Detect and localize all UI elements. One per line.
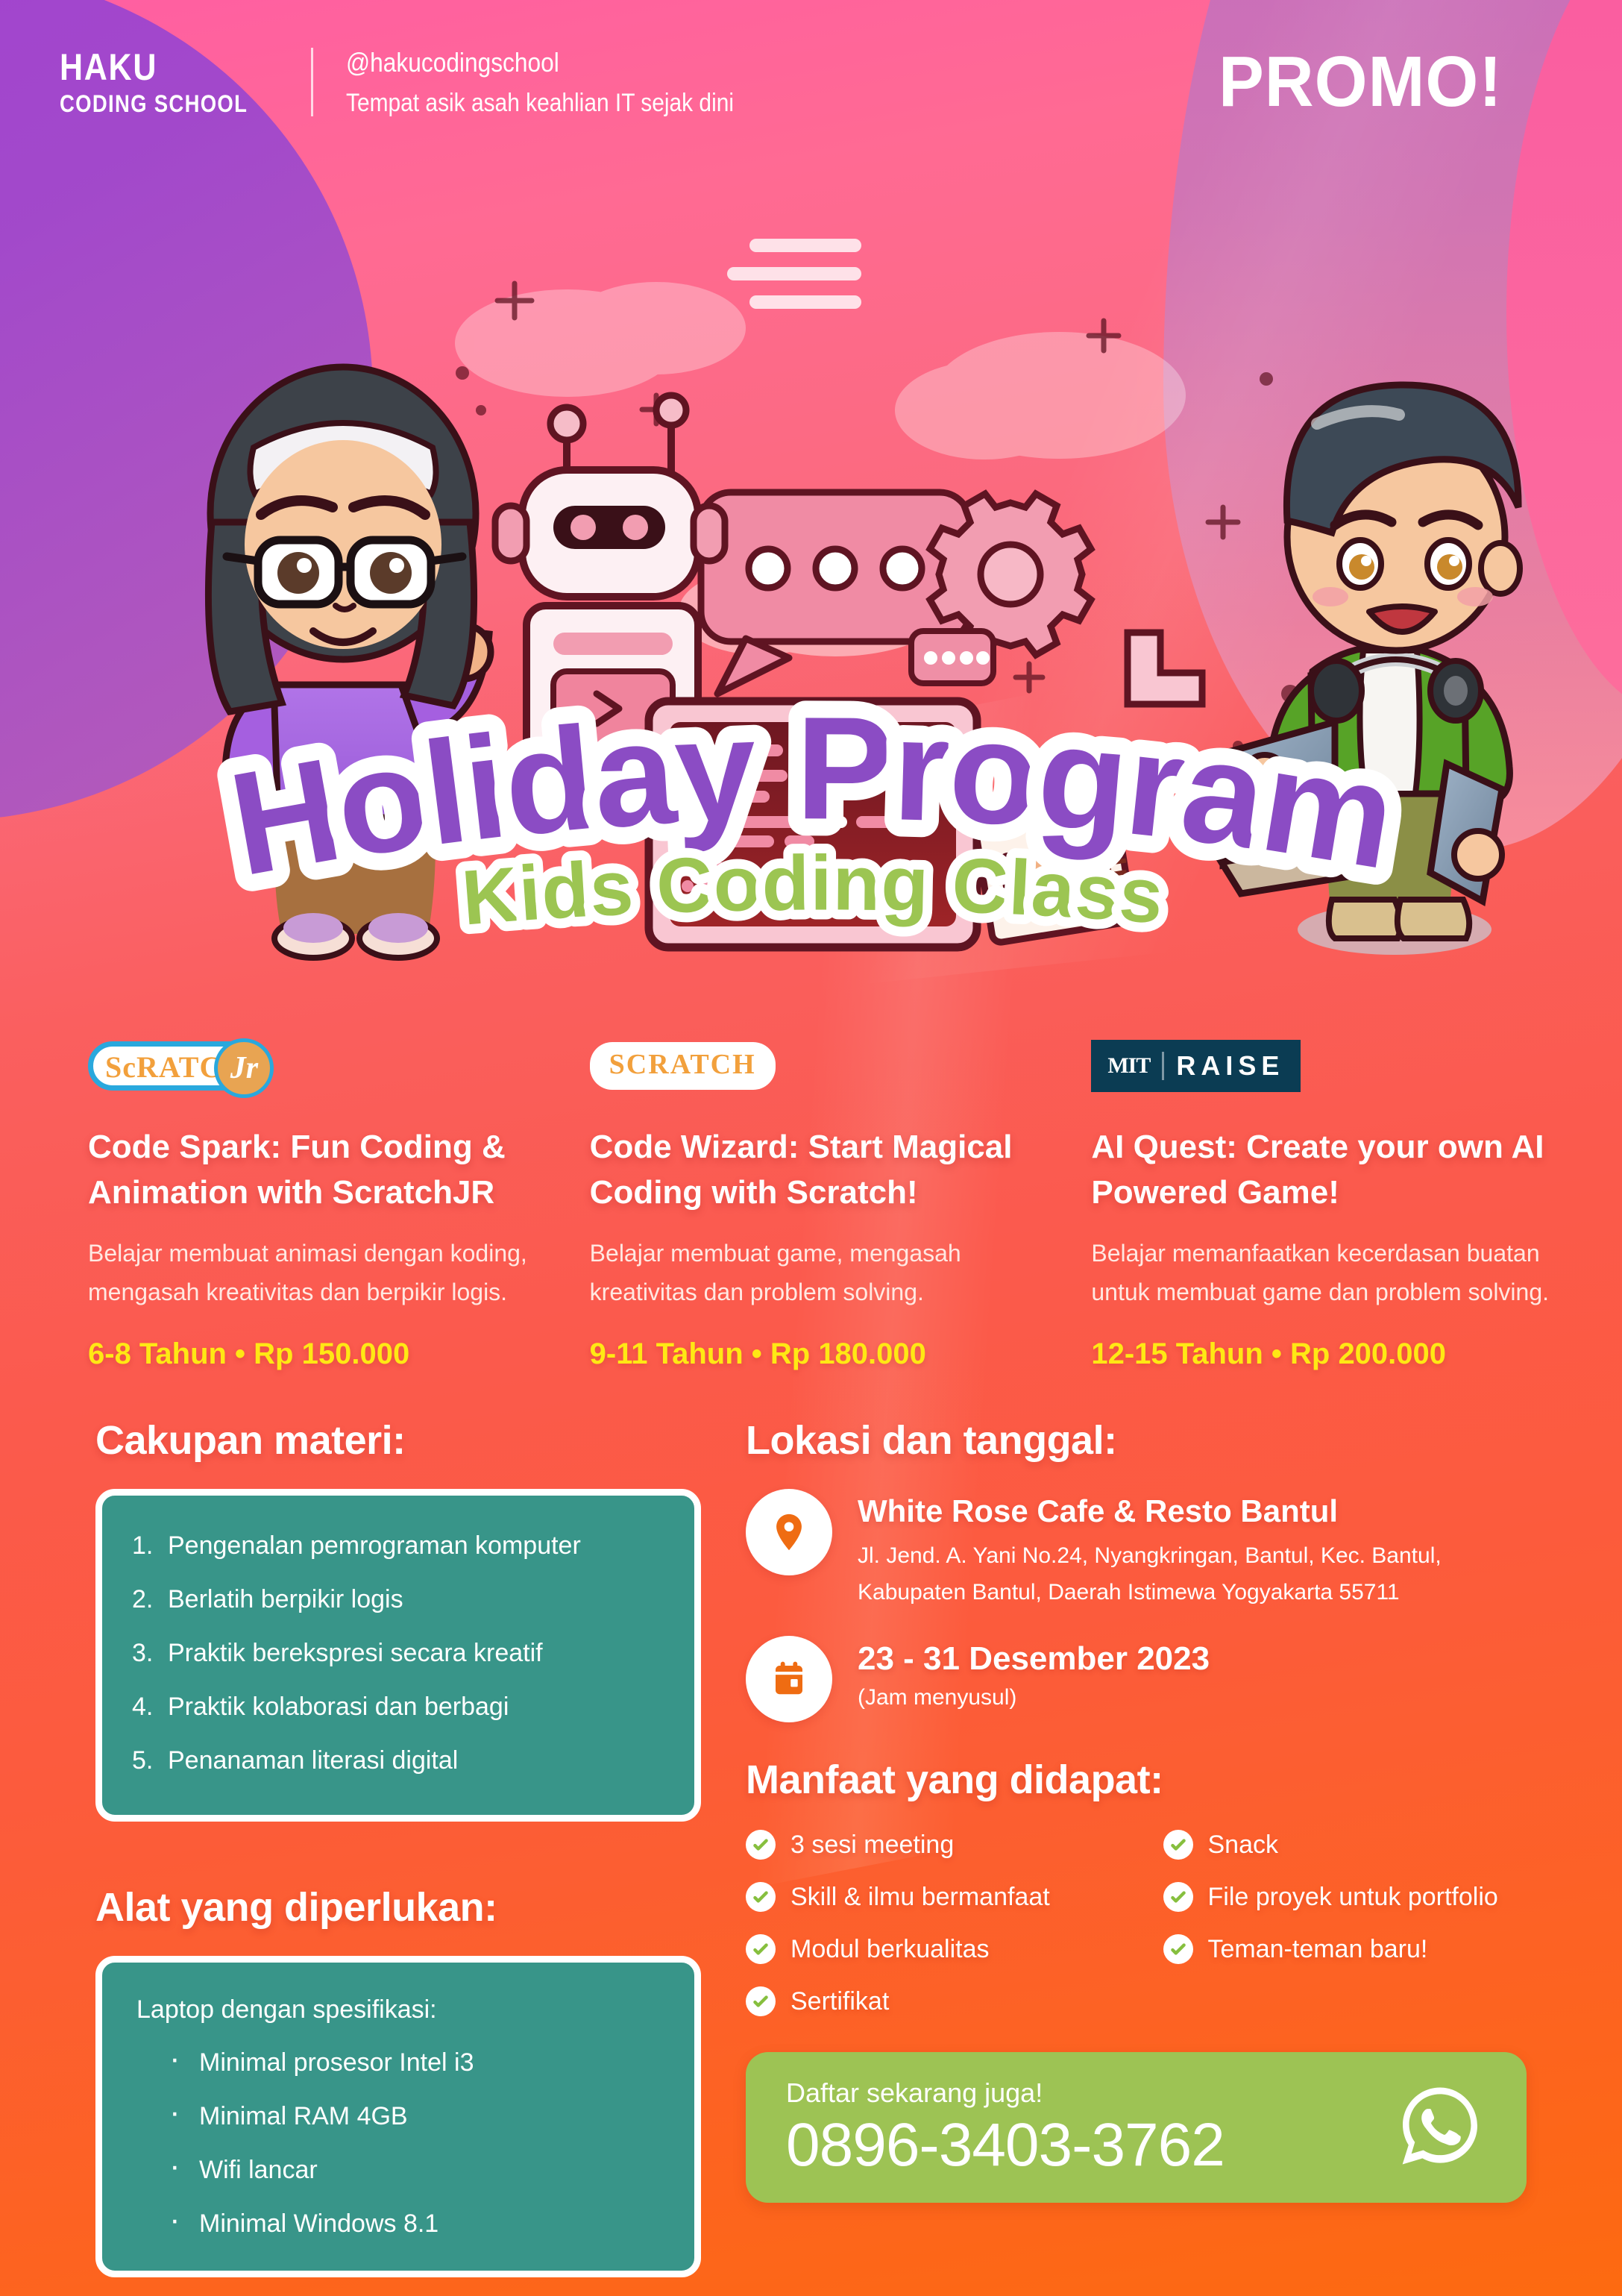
tagline-text: Tempat asik asah keahlian IT sejak dini (346, 84, 734, 123)
date-row: 23 - 31 Desember 2023 (Jam menyusul) (746, 1636, 1527, 1722)
whatsapp-icon[interactable] (1394, 2080, 1486, 2176)
benefit-item: Snack (1163, 1830, 1527, 1860)
brand-name: HAKU (60, 48, 248, 86)
materi-box: 1.Pengenalan pemrograman komputer 2.Berl… (95, 1489, 701, 1822)
date-text: 23 - 31 Desember 2023 (Jam menyusul) (858, 1636, 1210, 1710)
cta-phone-number: 0896-3403-3762 (786, 2113, 1394, 2177)
social-handle: @hakucodingschool (346, 42, 734, 84)
materi-number: 1. (132, 1533, 153, 1558)
materi-number: 5. (132, 1748, 153, 1773)
course-title: Code Spark: Fun Coding & Animation with … (88, 1125, 547, 1215)
benefit-label: Teman-teman baru! (1208, 1935, 1428, 1964)
scratch-logo-word: SCRATCH (609, 1049, 756, 1080)
benefit-label: Skill & ilmu bermanfaat (790, 1883, 1050, 1912)
course-description: Belajar membuat animasi dengan koding, m… (88, 1235, 547, 1312)
brand-subtitle: CODING SCHOOL (60, 92, 248, 116)
course-price: 9-11 Tahun • Rp 180.000 (590, 1337, 1049, 1371)
decor-bars (727, 239, 861, 309)
course-title: AI Quest: Create your own AI Powered Gam… (1091, 1125, 1550, 1215)
calendar-icon (746, 1636, 832, 1722)
list-item: Minimal Windows 8.1 (169, 2211, 660, 2236)
materi-text: Praktik berekspresi secara kreatif (168, 1639, 543, 1667)
materi-heading: Cakupan materi: (95, 1417, 701, 1464)
check-icon (746, 1934, 776, 1964)
event-date: 23 - 31 Desember 2023 (858, 1640, 1210, 1678)
course-title: Code Wizard: Start Magical Coding with S… (590, 1125, 1049, 1215)
check-icon (1163, 1882, 1193, 1912)
list-item: 5.Penanaman literasi digital (132, 1748, 660, 1773)
mit-raise-logo: MIT RAISE (1091, 1040, 1301, 1092)
cta-subtitle: Daftar sekarang juga! (786, 2077, 1394, 2109)
benefits-list: 3 sesi meeting Skill & ilmu bermanfaat M… (746, 1830, 1527, 2016)
course-price: 6-8 Tahun • Rp 150.000 (88, 1337, 547, 1371)
materi-list: 1.Pengenalan pemrograman komputer 2.Berl… (132, 1533, 660, 1773)
list-item: 4.Praktik kolaborasi dan berbagi (132, 1694, 660, 1719)
course-card: MIT RAISE AI Quest: Create your own AI P… (1091, 1037, 1550, 1371)
benefit-label: Modul berkualitas (790, 1935, 989, 1964)
benefit-item: File proyek untuk portfolio (1163, 1882, 1527, 1912)
mit-logo-word: MIT (1107, 1053, 1150, 1079)
section-spacer (95, 1822, 701, 1884)
alat-intro: Laptop dengan spesifikasi: (136, 1995, 660, 2024)
svg-text:Kids Coding Class: Kids Coding Class (459, 840, 1166, 940)
event-time-note: (Jam menyusul) (858, 1685, 1210, 1710)
list-item: 1.Pengenalan pemrograman komputer (132, 1533, 660, 1558)
course-logo-slot: MIT RAISE (1091, 1037, 1550, 1095)
location-pin-glyph (767, 1511, 811, 1554)
check-icon (746, 1986, 776, 2016)
location-row: White Rose Cafe & Resto Bantul Jl. Jend.… (746, 1489, 1527, 1610)
list-item: 3.Praktik berekspresi secara kreatif (132, 1640, 660, 1666)
scratchjr-logo: ScRATCH Jr (88, 1041, 260, 1091)
materi-number: 2. (132, 1587, 153, 1612)
benefit-item: Sertifikat (746, 1986, 1110, 2016)
benefit-label: Sertifikat (790, 1987, 889, 2016)
benefit-label: 3 sesi meeting (790, 1831, 954, 1860)
check-icon (1163, 1934, 1193, 1964)
left-column: Cakupan materi: 1.Pengenalan pemrograman… (0, 1417, 701, 2277)
course-card-list: ScRATCH Jr Code Spark: Fun Coding & Anim… (88, 1037, 1550, 1371)
materi-number: 4. (132, 1694, 153, 1719)
hero-title-lockup: Holiday Program Kids Coding Class (0, 656, 1622, 940)
benefits-column-2: Snack File proyek untuk portfolio Teman-… (1163, 1830, 1527, 2016)
list-item: Wifi lancar (169, 2157, 660, 2183)
venue-address-line2: Kabupaten Bantul, Daerah Istimewa Yogyak… (858, 1575, 1442, 1611)
benefits-column-1: 3 sesi meeting Skill & ilmu bermanfaat M… (746, 1830, 1110, 2016)
venue-name: White Rose Cafe & Resto Bantul (858, 1493, 1442, 1529)
whatsapp-glyph (1394, 2080, 1486, 2172)
check-icon (746, 1830, 776, 1860)
header-divider (311, 48, 313, 116)
poster-root: HAKU CODING SCHOOL @hakucodingschool Tem… (0, 0, 1622, 2296)
benefit-item: 3 sesi meeting (746, 1830, 1110, 1860)
materi-text: Penanaman literasi digital (168, 1746, 458, 1775)
hero-title-svg: Holiday Program Kids Coding Class (0, 656, 1622, 940)
list-item: Minimal prosesor Intel i3 (169, 2050, 660, 2075)
check-icon (1163, 1830, 1193, 1860)
header-tagline: @hakucodingschool Tempat asik asah keahl… (346, 42, 787, 122)
alat-heading: Alat yang diperlukan: (95, 1884, 701, 1930)
location-text: White Rose Cafe & Resto Bantul Jl. Jend.… (858, 1489, 1442, 1610)
alat-box: Laptop dengan spesifikasi: Minimal prose… (95, 1956, 701, 2277)
materi-text: Pengenalan pemrograman komputer (168, 1531, 581, 1560)
alat-list: Minimal prosesor Intel i3 Minimal RAM 4G… (136, 2050, 660, 2236)
calendar-glyph (769, 1659, 809, 1699)
materi-text: Berlatih berpikir logis (168, 1585, 403, 1613)
scratchjr-logo-badge: Jr (214, 1038, 274, 1098)
location-pin-icon (746, 1489, 832, 1575)
cta-text-block: Daftar sekarang juga! 0896-3403-3762 (786, 2077, 1394, 2177)
promo-badge: PROMO! (1219, 41, 1503, 123)
benefit-item: Modul berkualitas (746, 1934, 1110, 1964)
brand-logo: HAKU CODING SCHOOL (60, 48, 278, 116)
manfaat-heading: Manfaat yang didapat: (746, 1757, 1527, 1803)
benefit-label: Snack (1208, 1831, 1279, 1860)
course-card: ScRATCH Jr Code Spark: Fun Coding & Anim… (88, 1037, 547, 1371)
raise-logo-word: RAISE (1176, 1050, 1284, 1082)
course-description: Belajar membuat game, mengasah kreativit… (590, 1235, 1049, 1312)
hero-title-line2: Kids Coding Class (459, 840, 1166, 940)
list-item: 2.Berlatih berpikir logis (132, 1587, 660, 1612)
materi-number: 3. (132, 1640, 153, 1666)
right-column: Lokasi dan tanggal: White Rose Cafe & Re… (701, 1417, 1622, 2277)
benefit-item: Teman-teman baru! (1163, 1934, 1527, 1964)
list-item: Minimal RAM 4GB (169, 2104, 660, 2129)
check-icon (746, 1882, 776, 1912)
benefit-label: File proyek untuk portfolio (1208, 1883, 1498, 1912)
course-description: Belajar memanfaatkan kecerdasan buatan u… (1091, 1235, 1550, 1312)
scratch-logo: SCRATCH (590, 1042, 776, 1090)
venue-address-line1: Jl. Jend. A. Yani No.24, Nyangkringan, B… (858, 1538, 1442, 1575)
lower-content: Cakupan materi: 1.Pengenalan pemrograman… (0, 1417, 1622, 2277)
course-logo-slot: SCRATCH (590, 1037, 1049, 1095)
mit-raise-divider (1162, 1052, 1164, 1080)
register-cta-banner[interactable]: Daftar sekarang juga! 0896-3403-3762 (746, 2052, 1527, 2203)
course-card: SCRATCH Code Wizard: Start Magical Codin… (590, 1037, 1049, 1371)
course-logo-slot: ScRATCH Jr (88, 1037, 547, 1095)
lokasi-heading: Lokasi dan tanggal: (746, 1417, 1527, 1464)
header-bar: HAKU CODING SCHOOL @hakucodingschool Tem… (0, 0, 1622, 164)
materi-text: Praktik kolaborasi dan berbagi (168, 1693, 509, 1721)
benefit-item: Skill & ilmu bermanfaat (746, 1882, 1110, 1912)
course-price: 12-15 Tahun • Rp 200.000 (1091, 1337, 1550, 1371)
